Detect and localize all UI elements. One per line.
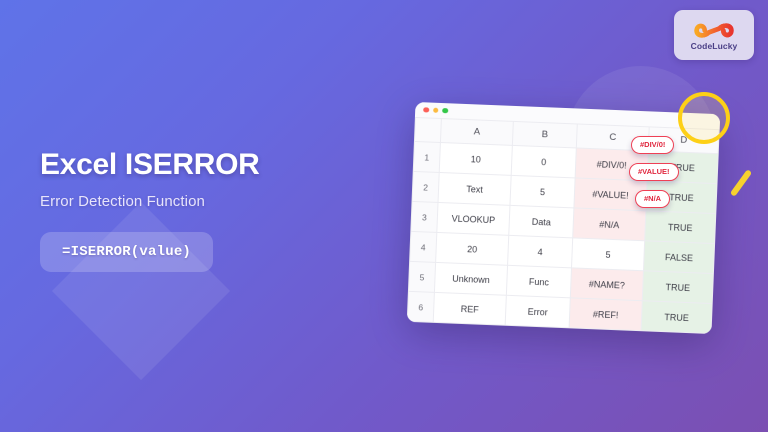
slide-canvas: CodeLucky Excel ISERROR Error Detection …: [0, 0, 768, 432]
pencil-stroke-annotation: [730, 169, 752, 197]
row-header[interactable]: 6: [407, 291, 434, 322]
row-header[interactable]: 4: [410, 231, 437, 262]
minimize-button-icon[interactable]: [433, 107, 439, 113]
cell-b1[interactable]: 0: [511, 145, 576, 178]
spreadsheet-window: A B C D 1 10 0 #DIV/0! TRUE 2 Text 5 #VA…: [407, 102, 721, 334]
close-button-icon[interactable]: [423, 107, 429, 113]
cell-b4[interactable]: 4: [508, 235, 573, 268]
cell-b6[interactable]: Error: [505, 295, 570, 328]
formula-syntax-pill: =ISERROR(value): [40, 232, 213, 272]
error-callout-pill-value: #VALUE!: [629, 163, 679, 181]
cell-a3[interactable]: VLOOKUP: [437, 202, 510, 235]
hero-text-block: Excel ISERROR Error Detection Function =…: [40, 148, 370, 272]
row-header[interactable]: 3: [411, 201, 438, 232]
cell-b3[interactable]: Data: [509, 205, 574, 238]
cell-d6[interactable]: TRUE: [641, 301, 712, 334]
maximize-button-icon[interactable]: [442, 108, 448, 114]
cell-a5[interactable]: Unknown: [434, 262, 507, 295]
cell-a2[interactable]: Text: [438, 172, 511, 205]
cell-a6[interactable]: REF: [433, 292, 506, 325]
cell-c3[interactable]: #N/A: [573, 208, 646, 241]
grid-corner-cell: [414, 117, 441, 142]
brand-name: CodeLucky: [691, 42, 738, 51]
brand-logo-card[interactable]: CodeLucky: [674, 10, 754, 60]
cell-b5[interactable]: Func: [506, 265, 571, 298]
infinity-icon: [694, 20, 734, 41]
cell-c4[interactable]: 5: [572, 238, 645, 271]
highlight-circle-annotation: [678, 92, 730, 144]
cell-d3[interactable]: TRUE: [645, 211, 716, 244]
cell-b2[interactable]: 5: [510, 175, 575, 208]
cell-c5[interactable]: #NAME?: [570, 268, 643, 301]
cell-d5[interactable]: TRUE: [642, 271, 713, 304]
cell-d4[interactable]: FALSE: [643, 241, 714, 274]
page-subtitle: Error Detection Function: [40, 193, 370, 210]
column-header-b[interactable]: B: [512, 121, 577, 148]
row-header[interactable]: 2: [412, 171, 439, 202]
column-header-a[interactable]: A: [440, 119, 513, 146]
error-callout-pill-na: #N/A: [635, 190, 670, 208]
error-callout-pill-div0: #DIV/0!: [631, 136, 674, 154]
cell-c6[interactable]: #REF!: [569, 298, 642, 331]
page-title: Excel ISERROR: [40, 148, 370, 181]
cell-a1[interactable]: 10: [439, 143, 512, 176]
cell-a4[interactable]: 20: [436, 232, 509, 265]
row-header[interactable]: 5: [408, 261, 435, 292]
row-header[interactable]: 1: [413, 141, 440, 172]
